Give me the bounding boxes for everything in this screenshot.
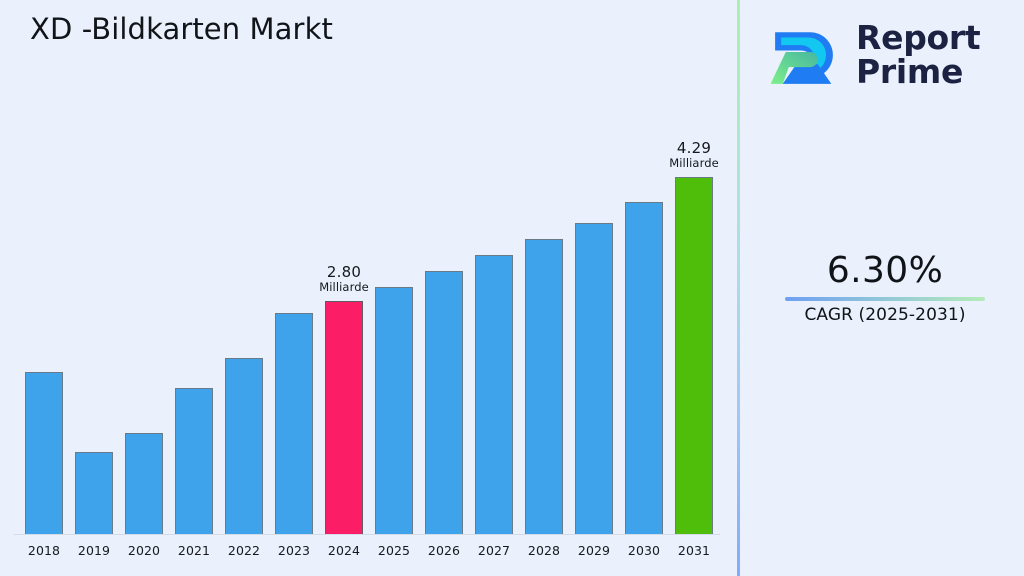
bar-2025[interactable] — [375, 287, 413, 534]
bar-2023[interactable] — [275, 313, 313, 534]
x-tick-2019: 2019 — [69, 543, 119, 558]
logo-line-1: Report — [856, 21, 980, 55]
bar-2027[interactable] — [475, 255, 513, 534]
bar-group-2027: 2027 — [469, 0, 519, 576]
x-tick-2025: 2025 — [369, 543, 419, 558]
bar-group-2028: 2028 — [519, 0, 569, 576]
bar-group-2026: 2026 — [419, 0, 469, 576]
x-tick-2030: 2030 — [619, 543, 669, 558]
bar-2028[interactable] — [525, 239, 563, 534]
x-tick-2027: 2027 — [469, 543, 519, 558]
x-tick-2024: 2024 — [319, 543, 369, 558]
bars-layer: 2018201920202021202220232.80Milliarde202… — [0, 0, 740, 576]
cagr-caption: CAGR (2025-2031) — [760, 305, 1010, 325]
x-tick-2028: 2028 — [519, 543, 569, 558]
bar-group-2024: 2.80Milliarde2024 — [319, 0, 369, 576]
bar-2030[interactable] — [625, 202, 663, 534]
bar-group-2018: 2018 — [19, 0, 69, 576]
x-tick-2022: 2022 — [219, 543, 269, 558]
report-prime-logo-icon — [766, 17, 842, 93]
x-tick-2029: 2029 — [569, 543, 619, 558]
x-tick-2021: 2021 — [169, 543, 219, 558]
bar-group-2029: 2029 — [569, 0, 619, 576]
x-tick-2031: 2031 — [669, 543, 719, 558]
x-tick-2026: 2026 — [419, 543, 469, 558]
bar-chart: 2018201920202021202220232.80Milliarde202… — [0, 0, 740, 576]
cagr-divider-rule — [785, 297, 985, 301]
bar-group-2019: 2019 — [69, 0, 119, 576]
bar-group-2030: 2030 — [619, 0, 669, 576]
x-tick-2018: 2018 — [19, 543, 69, 558]
x-tick-2023: 2023 — [269, 543, 319, 558]
bar-group-2031: 4.29Milliarde2031 — [669, 0, 719, 576]
report-prime-logo: Report Prime — [766, 10, 1011, 100]
right-panel: Report Prime 6.30% CAGR (2025-2031) — [740, 0, 1024, 576]
bar-2022[interactable] — [225, 358, 263, 534]
bar-2029[interactable] — [575, 223, 613, 534]
report-prime-wordmark: Report Prime — [856, 21, 980, 88]
bar-group-2025: 2025 — [369, 0, 419, 576]
bar-unit-2031: Milliarde — [657, 157, 731, 170]
bar-2020[interactable] — [125, 433, 163, 534]
cagr-block: 6.30% CAGR (2025-2031) — [760, 250, 1010, 325]
bar-2021[interactable] — [175, 388, 213, 534]
bar-value-2031: 4.29 — [657, 140, 731, 157]
bar-2026[interactable] — [425, 271, 463, 534]
bar-2018[interactable] — [25, 372, 63, 534]
bar-2024[interactable] — [325, 301, 363, 534]
bar-value-label-2031: 4.29Milliarde — [657, 140, 731, 170]
chart-page: XD -Bildkarten Markt 2018201920202021202… — [0, 0, 1024, 576]
bar-2031[interactable] — [675, 177, 713, 534]
x-tick-2020: 2020 — [119, 543, 169, 558]
cagr-value: 6.30% — [760, 250, 1010, 291]
bar-group-2021: 2021 — [169, 0, 219, 576]
bar-group-2022: 2022 — [219, 0, 269, 576]
bar-group-2020: 2020 — [119, 0, 169, 576]
bar-2019[interactable] — [75, 452, 113, 534]
logo-line-2: Prime — [856, 55, 980, 89]
